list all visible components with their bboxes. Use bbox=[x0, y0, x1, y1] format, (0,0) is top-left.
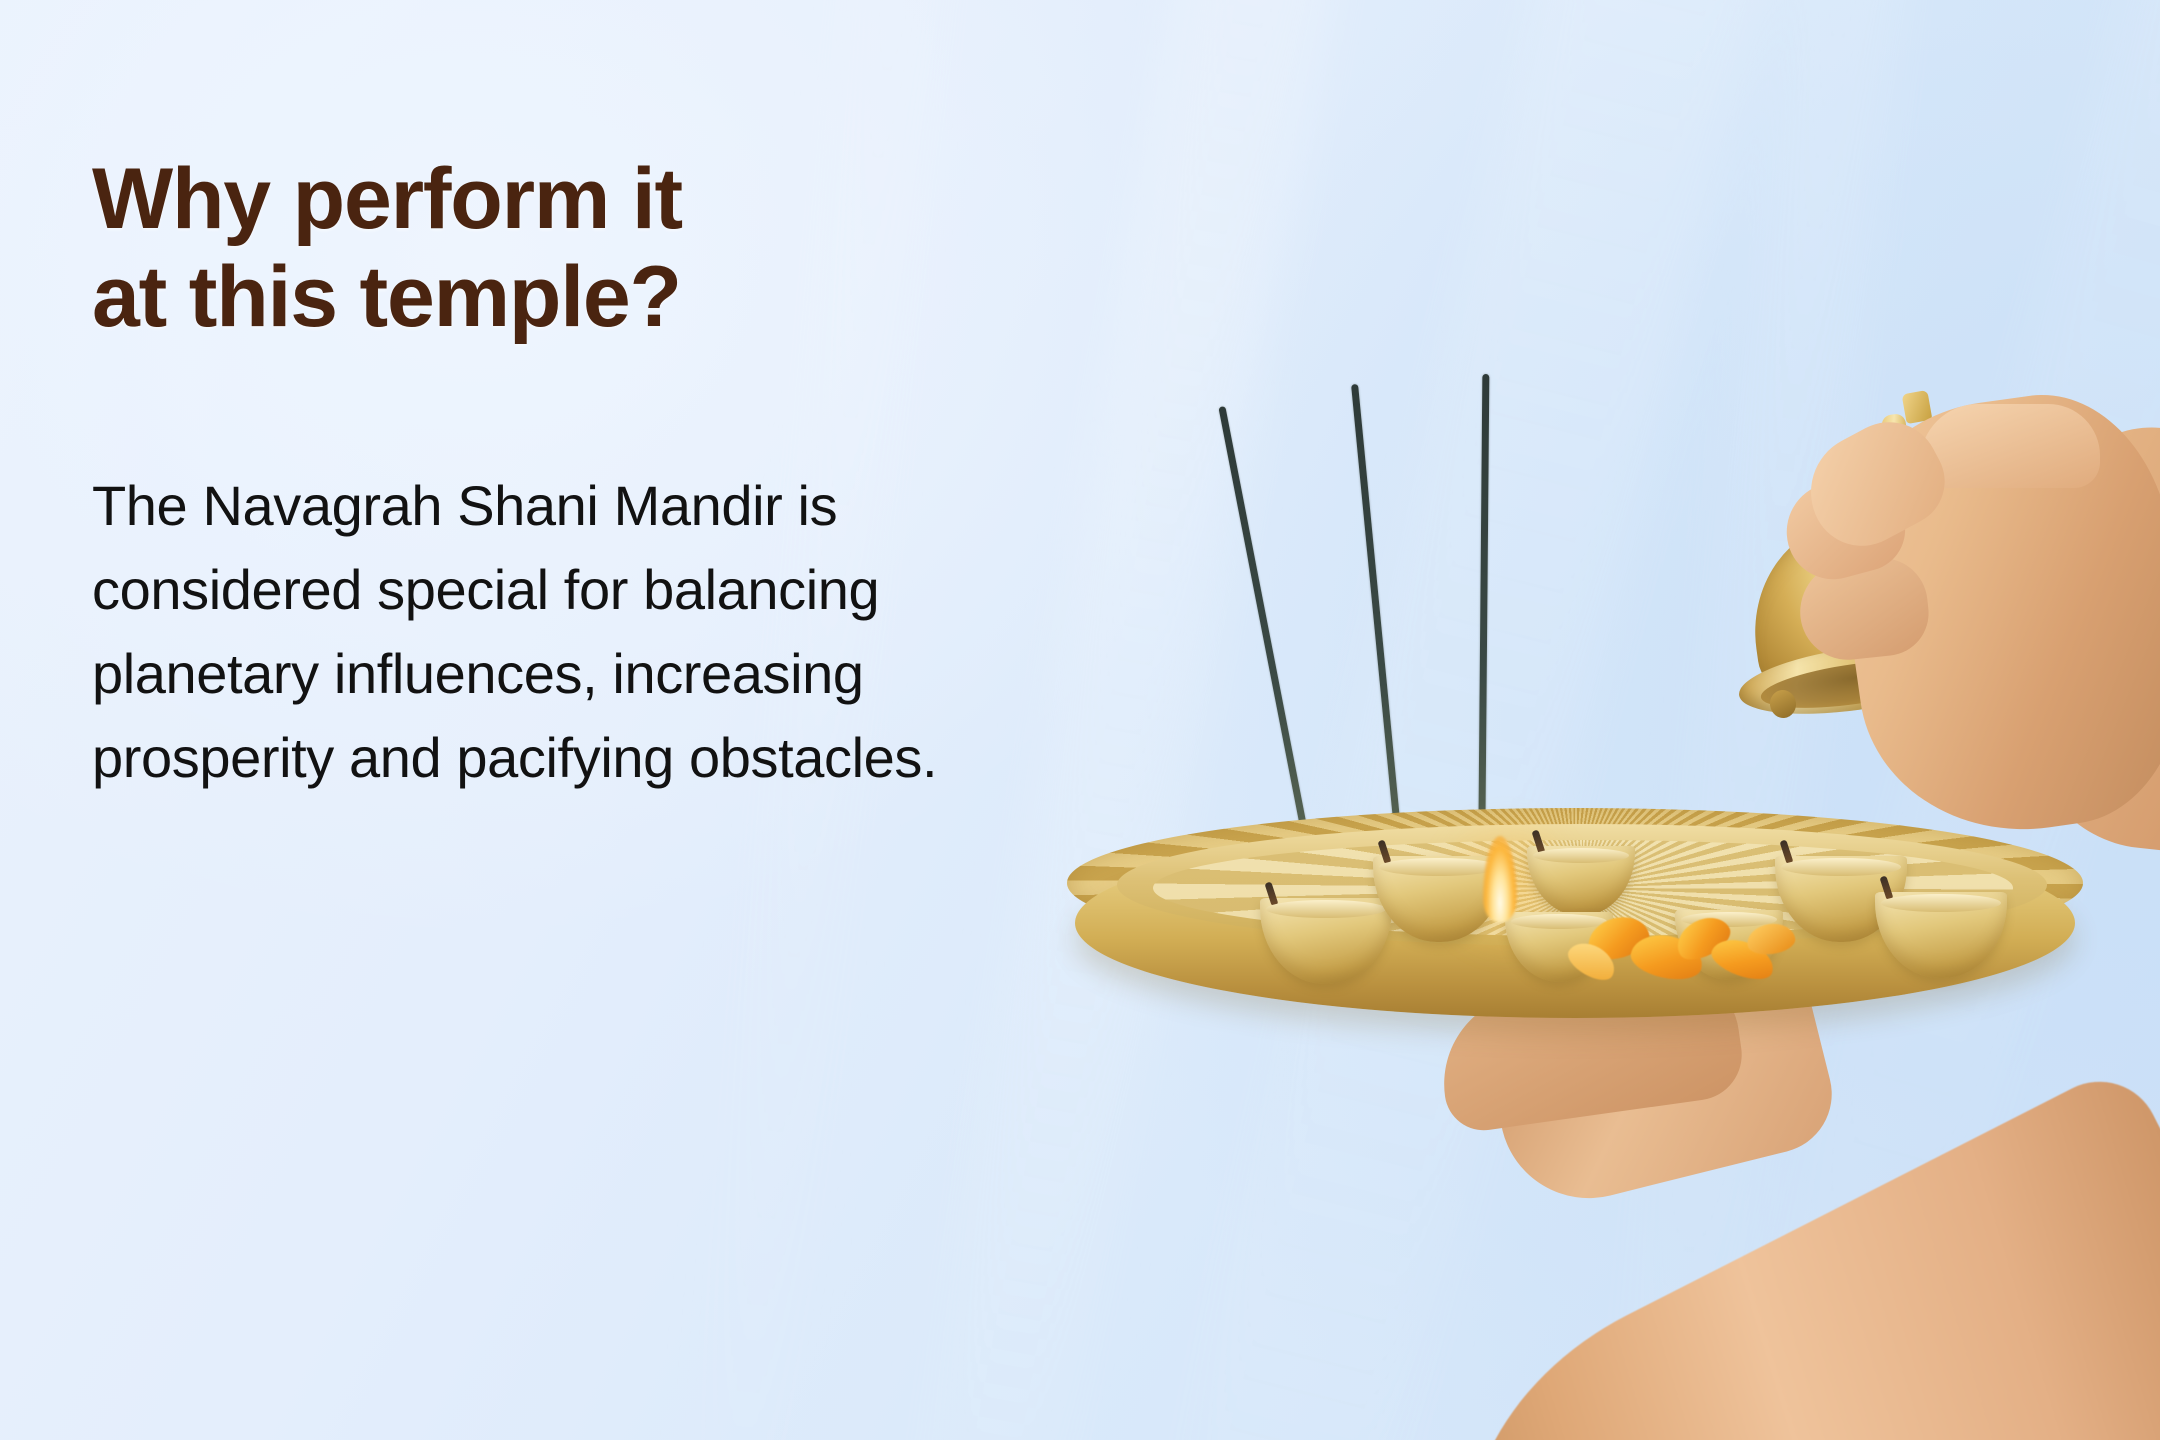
flame-glow bbox=[1427, 810, 1587, 960]
diya-lamp bbox=[1373, 856, 1505, 942]
middle-finger bbox=[1795, 554, 1933, 665]
diya-wick bbox=[1264, 882, 1278, 907]
thali-scalloped-rim bbox=[1067, 808, 2083, 958]
diya-lamp bbox=[1505, 912, 1613, 982]
bell-finial bbox=[1902, 390, 1933, 424]
thumb bbox=[1791, 405, 1961, 564]
light-ray bbox=[1046, 0, 1861, 1440]
diya-lamp bbox=[1527, 846, 1635, 916]
bell-lip bbox=[1735, 632, 1975, 726]
diya-wick bbox=[1779, 840, 1793, 865]
thali-inner-surface bbox=[1117, 824, 2047, 946]
incense-stick bbox=[1478, 374, 1489, 874]
diya-wick bbox=[1531, 830, 1545, 855]
marigold-petal bbox=[1707, 932, 1779, 986]
incense-stick bbox=[1218, 406, 1315, 869]
page-title: Why perform it at this temple? bbox=[92, 150, 1092, 346]
bell-handle bbox=[1881, 413, 1920, 523]
slide-canvas: Why perform it at this temple? The Navag… bbox=[0, 0, 2160, 1440]
text-column: Why perform it at this temple? The Navag… bbox=[92, 150, 1092, 800]
marigold-petal bbox=[1745, 921, 1797, 957]
diya-wick bbox=[1879, 876, 1893, 901]
marigold-petal bbox=[1563, 936, 1621, 987]
diya-lamp bbox=[1675, 910, 1783, 980]
diya-lamp bbox=[1875, 892, 2007, 978]
brass-bell bbox=[1740, 506, 1973, 713]
marigold-petal bbox=[1583, 910, 1654, 966]
marigold-petal bbox=[1670, 909, 1736, 967]
diya-lamp bbox=[1260, 898, 1392, 984]
bell-clapper bbox=[1768, 688, 1798, 719]
index-finger bbox=[1776, 466, 1915, 589]
upper-forearm bbox=[2019, 418, 2160, 863]
diya-wick bbox=[1377, 840, 1391, 865]
diya-flame bbox=[1483, 836, 1517, 922]
light-ray bbox=[1536, 0, 1953, 1440]
thali-body bbox=[1075, 828, 2075, 1018]
hand-holding-bell bbox=[1822, 379, 2160, 851]
diya-lamp bbox=[1775, 856, 1907, 942]
light-ray bbox=[1567, 0, 2160, 1440]
thali-inner-fluted-lip bbox=[1153, 840, 2013, 936]
forearm-supporting-thali bbox=[1395, 1061, 2160, 1440]
palm-under-thali bbox=[1432, 965, 1747, 1135]
body-paragraph: The Navagrah Shani Mandir is considered … bbox=[92, 464, 1092, 800]
marigold-petal bbox=[1627, 929, 1706, 985]
bell-mouth bbox=[1758, 651, 1952, 717]
wrist bbox=[1476, 943, 1845, 1217]
bell-collar bbox=[1854, 505, 1960, 553]
knuckles bbox=[1920, 404, 2100, 488]
incense-stick bbox=[1351, 384, 1405, 872]
brass-puja-thali bbox=[1075, 800, 2075, 1060]
